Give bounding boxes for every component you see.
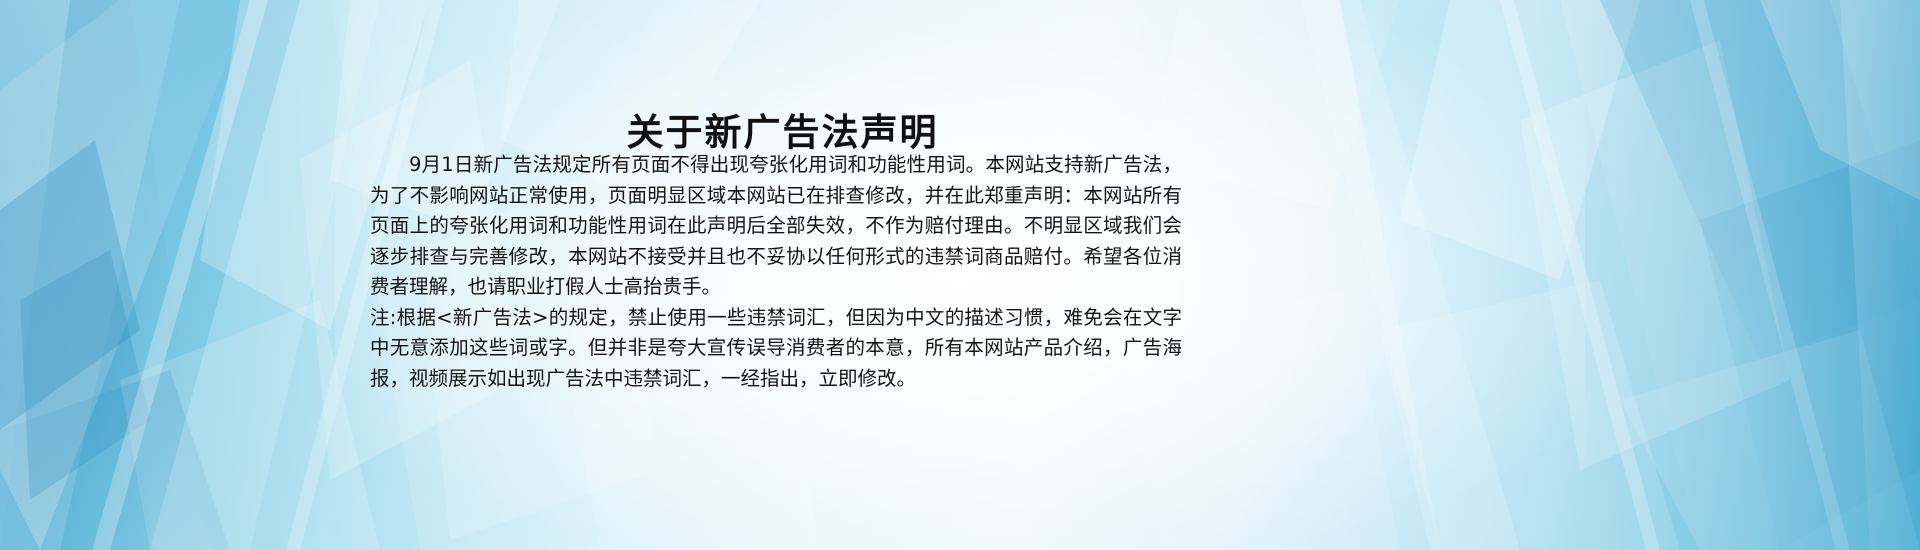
statement-paragraph-main: 9月1日新广告法规定所有页面不得出现夸张化用词和功能性用词。本网站支持新广告法，… (370, 150, 1182, 303)
statement-paragraph-note: 注:根据<新广告法>的规定，禁止使用一些违禁词汇，但因为中文的描述习惯，难免会在… (370, 303, 1182, 395)
banner-content: 关于新广告法声明 9月1日新广告法规定所有页面不得出现夸张化用词和功能性用词。本… (0, 0, 1920, 550)
advertising-law-statement-banner: 关于新广告法声明 9月1日新广告法规定所有页面不得出现夸张化用词和功能性用词。本… (0, 0, 1920, 550)
statement-body: 9月1日新广告法规定所有页面不得出现夸张化用词和功能性用词。本网站支持新广告法，… (370, 150, 1182, 394)
page-title: 关于新广告法声明 (0, 113, 1920, 154)
